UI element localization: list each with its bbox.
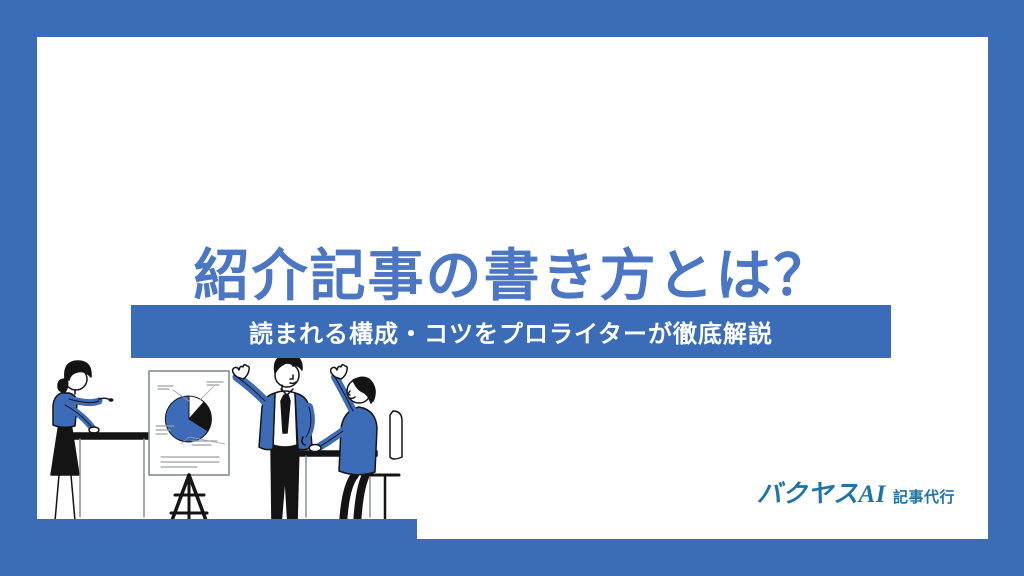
- figure-seated-person: [309, 365, 403, 532]
- brand-logo-sub: 記事代行: [893, 486, 955, 507]
- subtitle-text: 読まれる構成・コツをプロライターが徹底解説: [249, 314, 773, 349]
- brand-logo: バクヤスAI 記事代行: [757, 474, 955, 510]
- prop-floor-strip: [37, 519, 417, 539]
- white-content-card: 紹介記事の書き方とは？ 読まれる構成・コツをプロライターが徹底解説 バクヤスAI…: [37, 37, 988, 539]
- subtitle-band: 読まれる構成・コツをプロライターが徹底解説: [131, 305, 891, 358]
- team-meeting-illustration: [37, 349, 417, 539]
- thumbnail-canvas: 紹介記事の書き方とは？ 読まれる構成・コツをプロライターが徹底解説 バクヤスAI…: [0, 0, 1024, 576]
- poster-pie-chart: [165, 396, 211, 442]
- figure-presenting-man: [233, 355, 312, 531]
- brand-logo-main: バクヤスAI: [757, 474, 886, 510]
- figure-standing-woman: [51, 361, 114, 524]
- page-title: 紹介記事の書き方とは？: [37, 245, 988, 307]
- prop-easel-flipchart: [149, 371, 229, 531]
- prop-left-desk: [73, 433, 151, 517]
